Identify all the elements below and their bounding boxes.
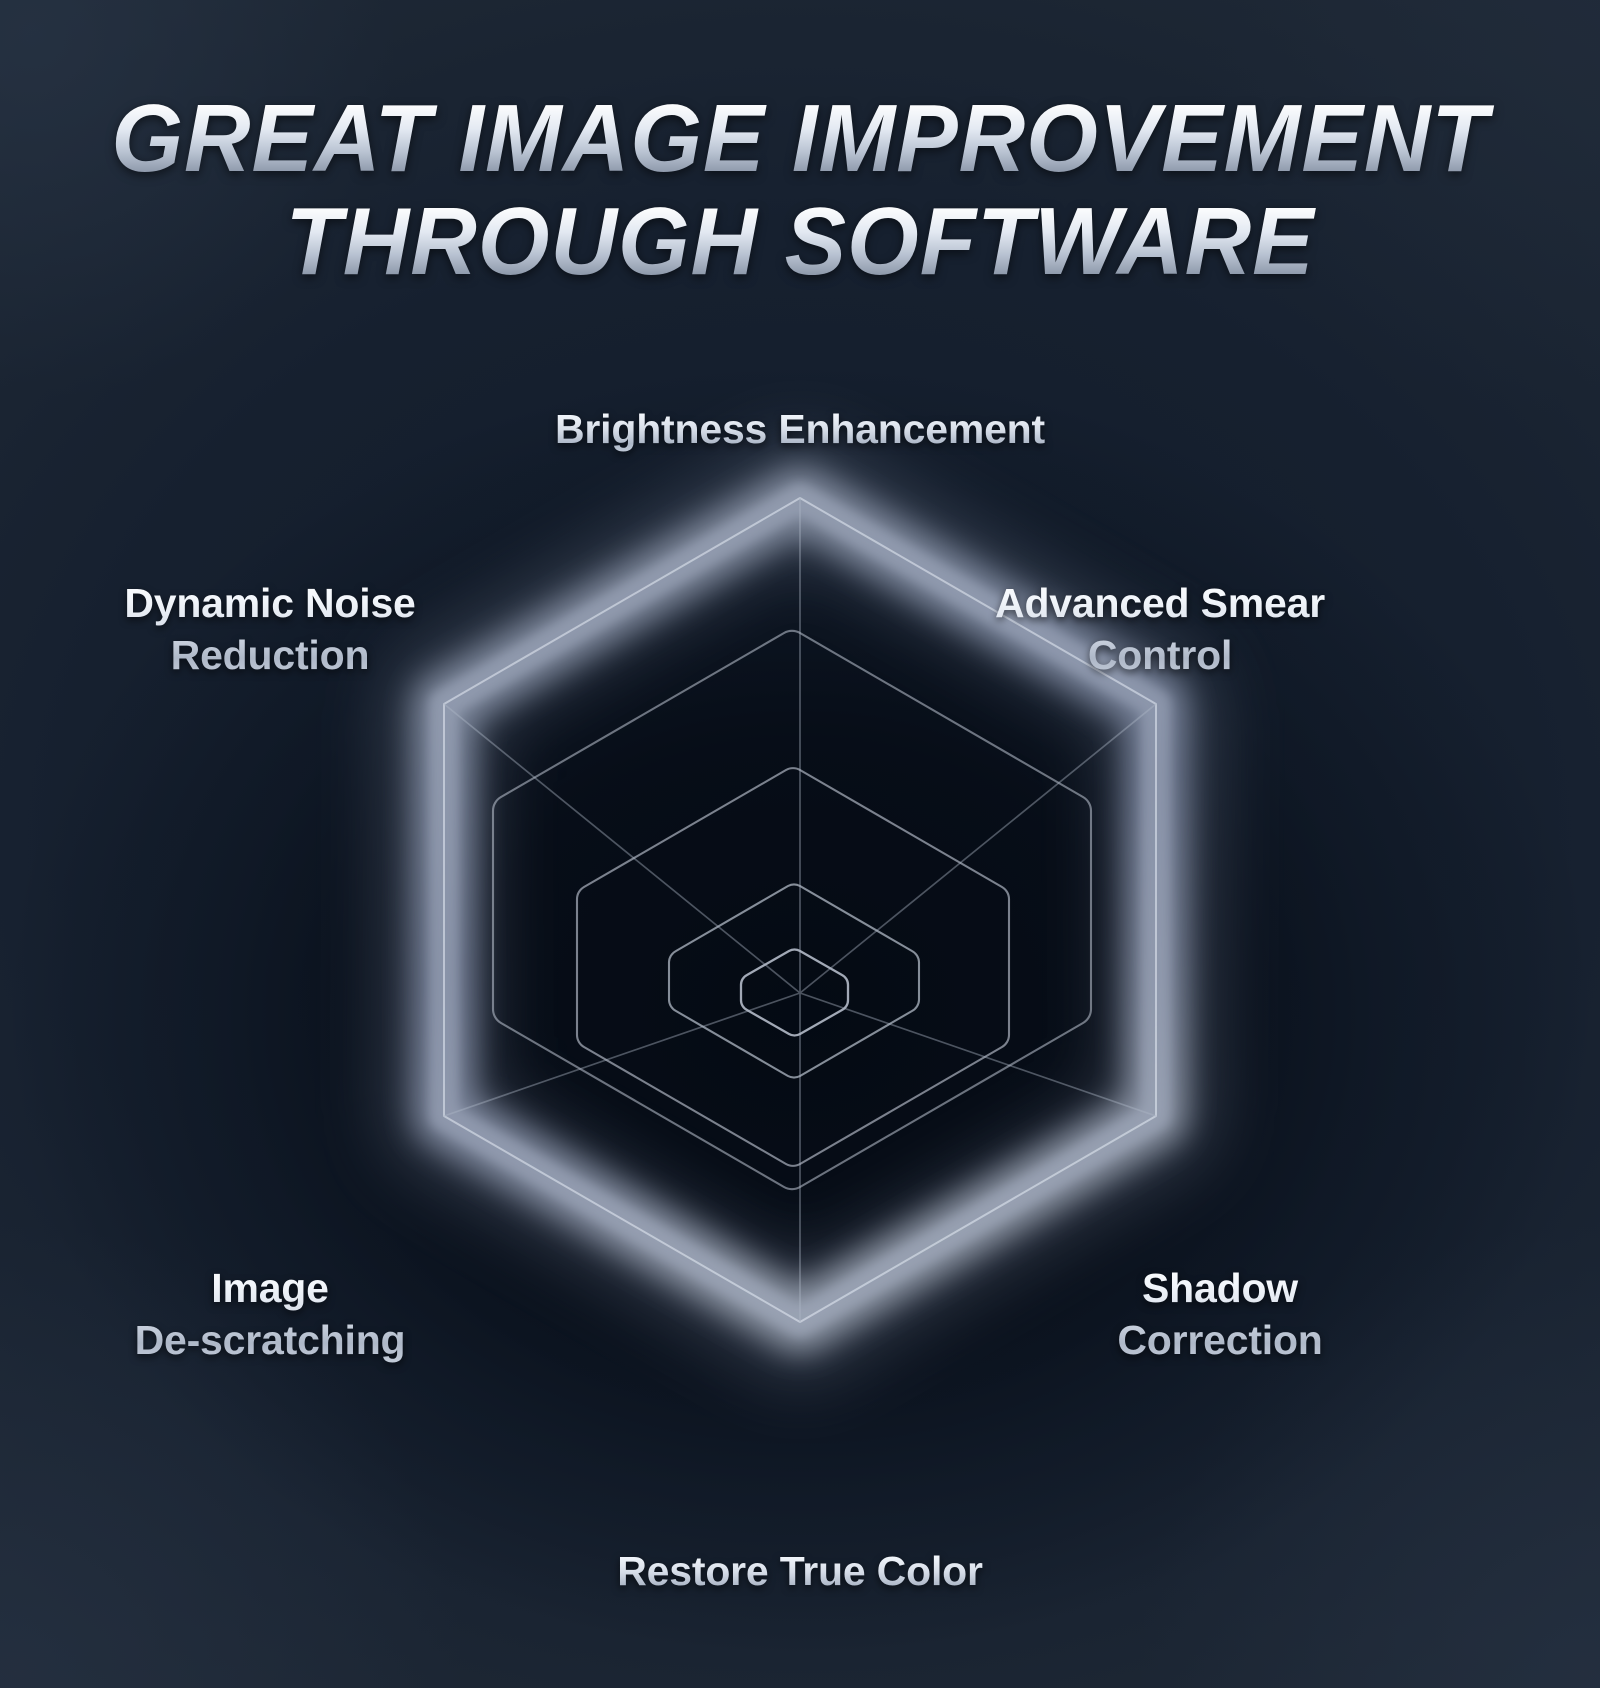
hexagon-ring-2 <box>669 885 919 1078</box>
title-line-1: GREAT IMAGE IMPROVEMENT <box>32 88 1568 191</box>
hexagon-ring-3 <box>577 768 1009 1166</box>
axis-label-shadow-correction: Shadow Correction <box>1000 1262 1440 1366</box>
hexagon-grid-rings <box>493 631 1091 1189</box>
axis-label-brightness-enhancement: Brightness Enhancement <box>0 403 1600 455</box>
axis-spoke-image-de-scratching <box>444 993 800 1116</box>
hexagon-ring-1 <box>741 950 848 1036</box>
axis-spoke-advanced-smear-control <box>800 704 1156 993</box>
axis-spoke-shadow-correction <box>800 993 1156 1116</box>
axis-label-image-de-scratching: Image De-scratching <box>50 1262 490 1366</box>
axis-label-restore-true-color: Restore True Color <box>0 1545 1600 1597</box>
axis-spoke-dynamic-noise-reduction <box>444 704 800 993</box>
axis-label-dynamic-noise-reduction: Dynamic Noise Reduction <box>20 577 520 681</box>
page-title: GREAT IMAGE IMPROVEMENT THROUGH SOFTWARE <box>0 88 1600 293</box>
title-line-2: THROUGH SOFTWARE <box>32 191 1568 294</box>
axis-label-advanced-smear-control: Advanced Smear Control <box>900 577 1420 681</box>
poster-canvas: GREAT IMAGE IMPROVEMENT THROUGH SOFTWARE <box>0 0 1600 1688</box>
hexagon-ring-4 <box>493 631 1091 1189</box>
